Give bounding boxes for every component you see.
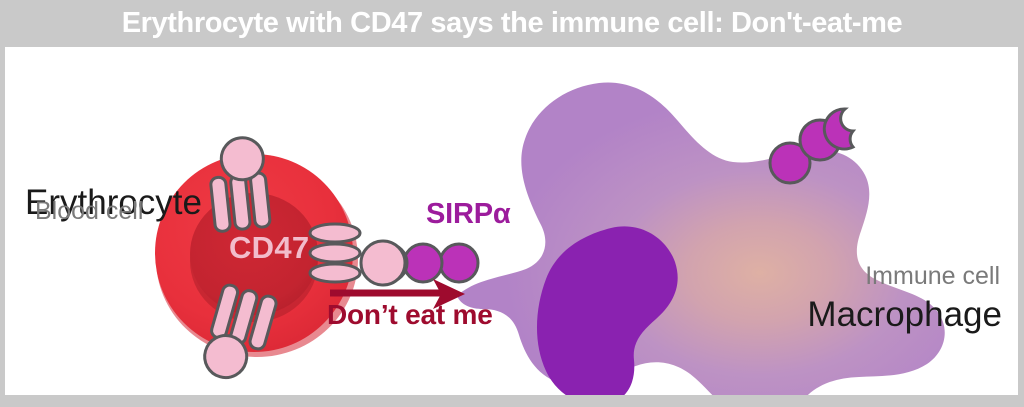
sirpa-label: SIRPα bbox=[426, 198, 511, 231]
cd47-label: CD47 bbox=[229, 230, 309, 266]
sirpa-domain-icon bbox=[404, 244, 442, 282]
sirpa-domain-icon bbox=[440, 244, 478, 282]
illustration-panel: Erythrocyte Blood cell CD47 SIRPα Don’t … bbox=[5, 47, 1018, 395]
macrophage-cytoplasm bbox=[457, 82, 945, 395]
cd47-head-icon bbox=[361, 241, 405, 285]
cd47-stalk-icon bbox=[310, 244, 360, 262]
macrophage-title: Macrophage bbox=[807, 295, 1002, 335]
cd47-molecule-top bbox=[206, 136, 270, 232]
cd47-stalk-icon bbox=[310, 224, 360, 242]
macrophage-subtitle: Immune cell bbox=[865, 262, 1000, 291]
cd47-molecule-synapse bbox=[310, 224, 405, 285]
macrophage-cell bbox=[457, 82, 945, 395]
figure-container: Erythrocyte with CD47 says the immune ce… bbox=[0, 0, 1024, 407]
erythrocyte-subtitle: Blood cell bbox=[35, 197, 143, 226]
sirpa-binding-domain-icon bbox=[824, 109, 853, 149]
cd47-stalk-icon bbox=[310, 264, 360, 282]
figure-title: Erythrocyte with CD47 says the immune ce… bbox=[0, 3, 1024, 43]
dont-eat-me-label: Don’t eat me bbox=[327, 299, 493, 331]
